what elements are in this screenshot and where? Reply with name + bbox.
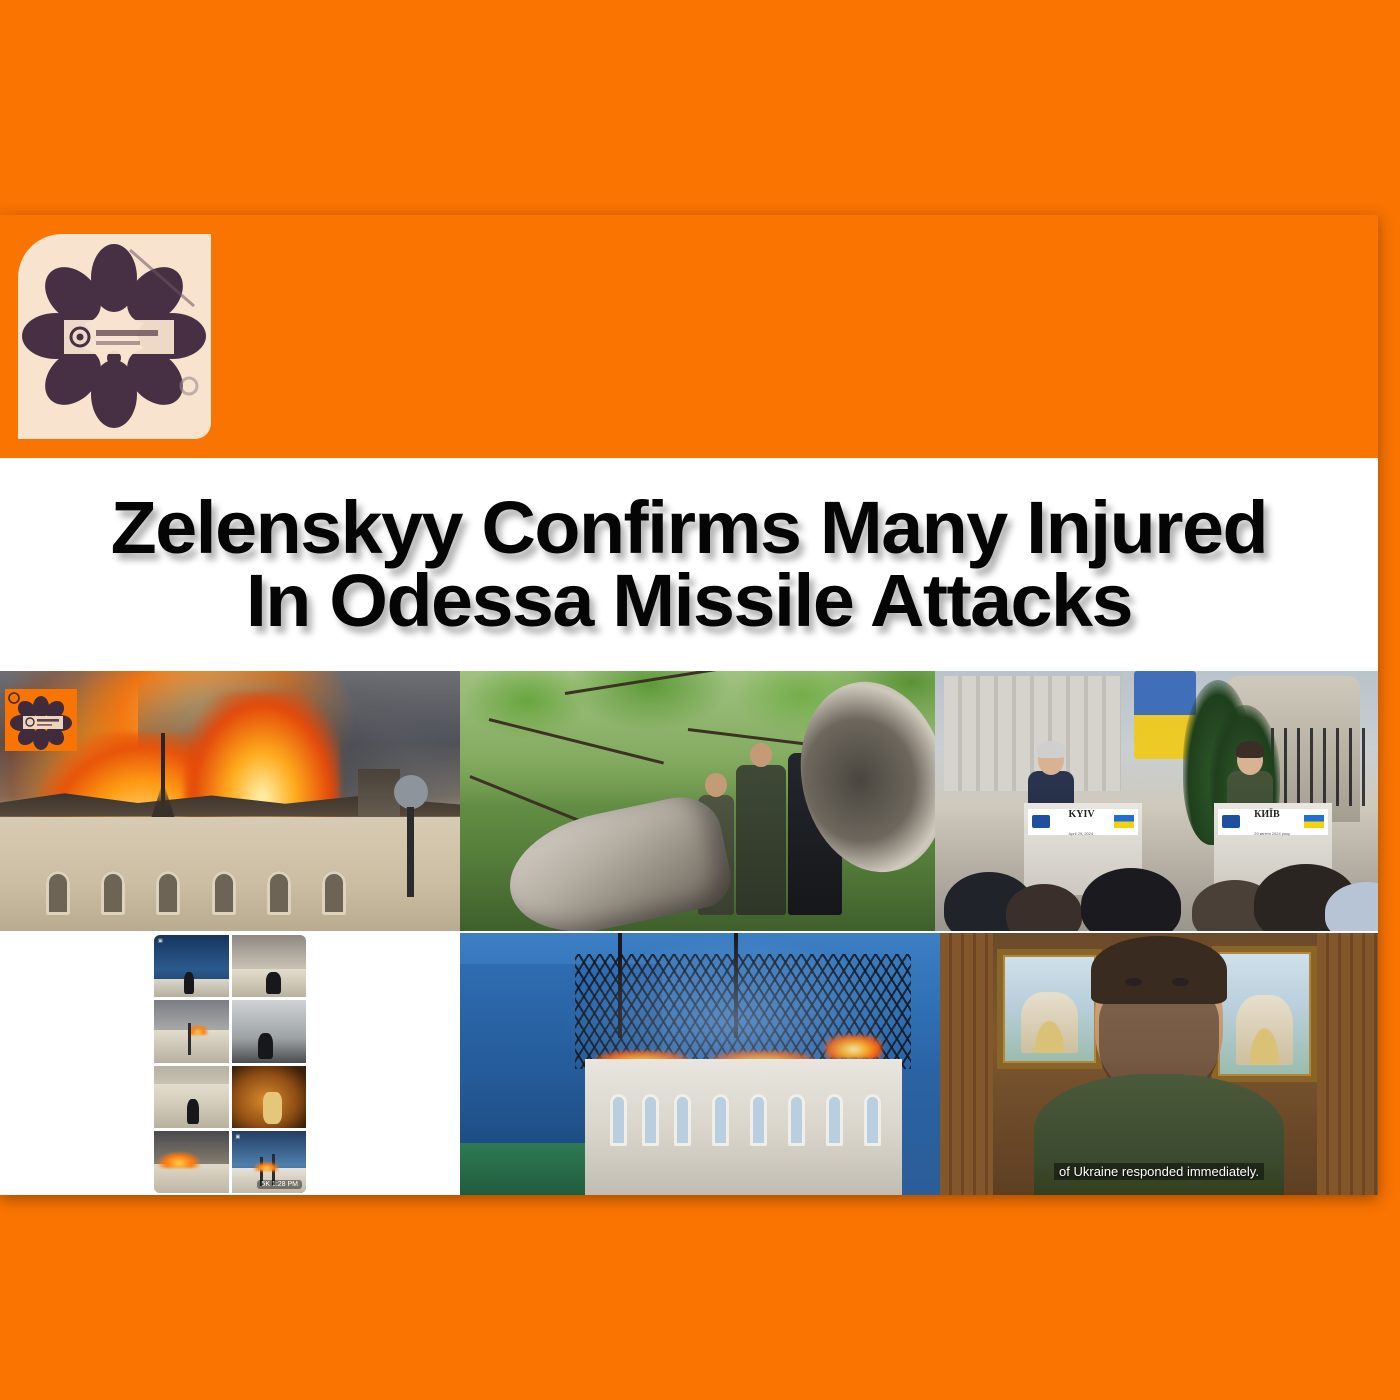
press-conference-illustration: KYIV April 29, 2024 КИЇВ <box>935 671 1378 931</box>
gallery-spacer-mid <box>310 933 460 1195</box>
ukraine-flag-icon <box>1114 815 1134 828</box>
gallery-spacer-left <box>0 933 150 1195</box>
podium-left-sign: KYIV April 29, 2024 <box>1028 809 1138 835</box>
flower-petal-logo[interactable] <box>18 234 211 439</box>
photo-firefighting-collage[interactable]: ▣ ▣ 5K 1:28 PM <box>150 933 310 1195</box>
photo-missile-debris[interactable] <box>460 671 935 931</box>
podium-right-subtitle: 29 квітня 2024 року <box>1254 831 1290 836</box>
page-title: Zelenskyy Confirms Many Injured In Odess… <box>84 492 1293 637</box>
zelenskyy-figure <box>1054 933 1264 1195</box>
missile-debris-illustration <box>460 671 935 931</box>
video-subtitle: of Ukraine responded immediately. <box>940 1163 1378 1181</box>
photo-zelenskyy-address[interactable]: of Ukraine responded immediately. <box>940 933 1378 1195</box>
podium-left-title: KYIV <box>1069 809 1095 820</box>
zelenskyy-address-illustration <box>940 933 1378 1195</box>
nato-emblem-icon <box>1032 815 1050 828</box>
photo-fire-building[interactable] <box>0 671 460 931</box>
headline-line-2: In Odessa Missile Attacks <box>246 559 1132 642</box>
headline-block: Zelenskyy Confirms Many Injured In Odess… <box>0 458 1378 671</box>
audience-row <box>935 869 1378 931</box>
gallery-row-top: KYIV April 29, 2024 КИЇВ <box>0 671 1378 931</box>
nato-emblem-icon <box>1222 815 1240 828</box>
photo-press-conference[interactable]: KYIV April 29, 2024 КИЇВ <box>935 671 1378 931</box>
collage-timestamp: 5K 1:28 PM <box>257 1180 302 1189</box>
ukraine-flag-icon <box>1304 815 1324 828</box>
collage-illustration: ▣ ▣ 5K 1:28 PM <box>150 933 310 1195</box>
podium-right-sign: КИЇВ 29 квітня 2024 року <box>1218 809 1328 835</box>
site-logo-watermark <box>5 689 77 751</box>
headline-line-1: Zelenskyy Confirms Many Injured <box>111 486 1267 569</box>
photo-castle-fire[interactable] <box>460 933 940 1195</box>
video-subtitle-text: of Ukraine responded immediately. <box>1054 1163 1264 1180</box>
podium-right-title: КИЇВ <box>1254 809 1280 820</box>
podium-left-subtitle: April 29, 2024 <box>1069 831 1094 836</box>
image-gallery: KYIV April 29, 2024 КИЇВ <box>0 671 1378 1195</box>
brand-header <box>0 215 1378 458</box>
article-card: Zelenskyy Confirms Many Injured In Odess… <box>0 215 1378 1195</box>
castle-fire-illustration <box>460 933 940 1195</box>
gallery-row-bottom: ▣ ▣ 5K 1:28 PM <box>0 933 1378 1195</box>
